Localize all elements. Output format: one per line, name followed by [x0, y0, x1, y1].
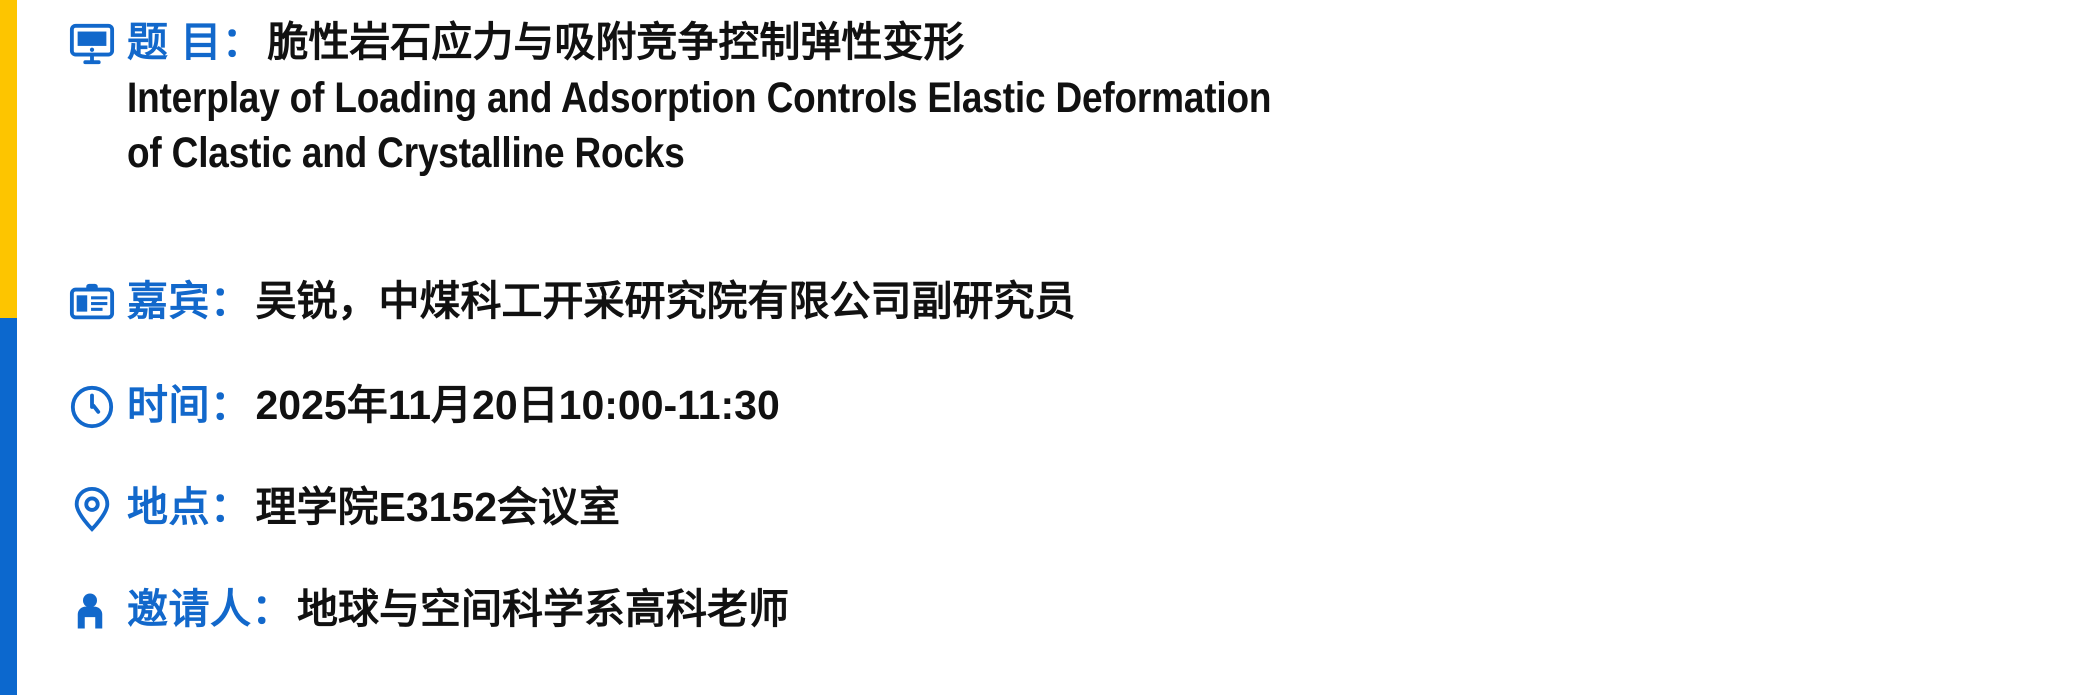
place-value: 理学院E3152会议室 — [256, 478, 621, 536]
seminar-announcement-poster: 题 目： 脆性岩石应力与吸附竞争控制弹性变形 Interplay of Load… — [0, 0, 2079, 695]
info-row-title: 题 目： 脆性岩石应力与吸附竞争控制弹性变形 Interplay of Load… — [69, 13, 1458, 181]
clock-icon — [69, 376, 127, 430]
guest-label: 嘉宾： — [127, 272, 256, 330]
info-row-guest: 嘉宾： 吴锐，中煤科工开采研究院有限公司副研究员 — [69, 272, 1076, 330]
inviter-label: 邀请人： — [127, 580, 297, 638]
accent-bar-yellow-segment — [0, 0, 17, 318]
place-label: 地点： — [127, 478, 256, 536]
info-row-inviter: 邀请人： 地球与空间科学系高科老师 — [69, 580, 789, 638]
guest-value: 吴锐，中煤科工开采研究院有限公司副研究员 — [256, 272, 1076, 330]
accent-bar-blue-segment — [0, 318, 17, 695]
monitor-icon — [69, 13, 127, 67]
location-pin-icon — [69, 478, 127, 532]
title-label: 题 目： — [127, 13, 267, 71]
title-text-group: 题 目： 脆性岩石应力与吸附竞争控制弹性变形 Interplay of Load… — [127, 13, 1458, 181]
title-english-line-1: Interplay of Loading and Adsorption Cont… — [127, 71, 1271, 126]
left-accent-bar — [0, 0, 17, 695]
info-row-time: 时间： 2025年11月20日10:00-11:30 — [69, 376, 780, 434]
id-card-icon — [69, 272, 127, 326]
time-value: 2025年11月20日10:00-11:30 — [256, 376, 780, 434]
info-row-place: 地点： 理学院E3152会议室 — [69, 478, 620, 536]
inviter-value: 地球与空间科学系高科老师 — [297, 580, 789, 638]
title-chinese: 脆性岩石应力与吸附竞争控制弹性变形 — [267, 13, 964, 71]
title-english-line-2: of Clastic and Crystalline Rocks — [127, 126, 1271, 181]
person-icon — [69, 580, 127, 634]
poster-content: 题 目： 脆性岩石应力与吸附竞争控制弹性变形 Interplay of Load… — [17, 0, 2079, 695]
time-label: 时间： — [127, 376, 256, 434]
